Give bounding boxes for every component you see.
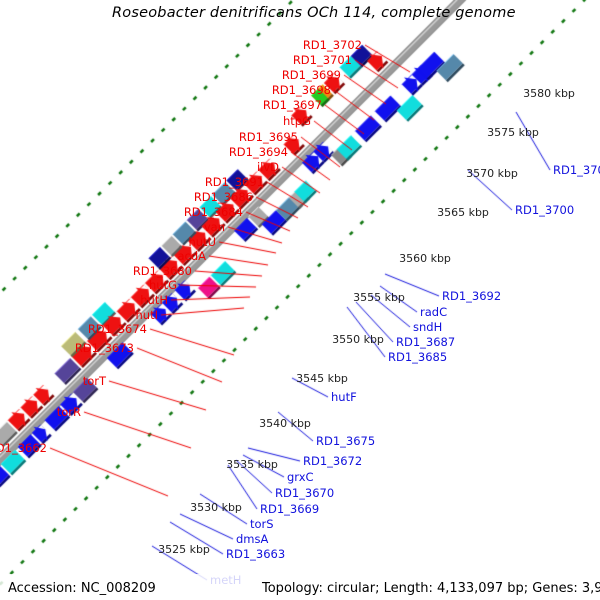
- gene-label-rd1_3687[interactable]: RD1_3687: [396, 336, 455, 348]
- gene-label-rd1_3700[interactable]: RD1_3700: [515, 204, 574, 216]
- gene-label-rd1_3662[interactable]: RD1_3662: [0, 442, 47, 454]
- gene-label-ilvd[interactable]: ilvD: [257, 161, 279, 173]
- gene-label-torr[interactable]: torR: [57, 406, 81, 418]
- gene-label-acda[interactable]: acdA: [177, 250, 206, 262]
- gene-label-rd1_3694[interactable]: RD1_3694: [229, 146, 288, 158]
- coordinate-tick-label: 3550 kbp: [332, 334, 384, 346]
- gene-label-radc[interactable]: radC: [420, 306, 447, 318]
- gene-label-hutu[interactable]: hutU: [188, 236, 216, 248]
- coordinate-tick-label: 3560 kbp: [399, 253, 451, 265]
- gene-label-rd1_3692[interactable]: RD1_3692: [442, 290, 501, 302]
- gene-label-rd1_3695[interactable]: RD1_3695: [239, 131, 298, 143]
- accession-label: Accession: NC_008209: [8, 581, 156, 596]
- gene-label-rd1_3706[interactable]: RD1_3706: [553, 164, 600, 176]
- gene-label-rd1_3702[interactable]: RD1_3702: [303, 39, 362, 51]
- gene-label-van[interactable]: van: [204, 221, 225, 233]
- coordinate-tick-label: 3555 kbp: [353, 292, 405, 304]
- gene-label-huth[interactable]: hutH: [140, 294, 168, 306]
- coordinate-tick-label: 3570 kbp: [466, 168, 518, 180]
- gene-label-rd1_3701[interactable]: RD1_3701: [293, 54, 352, 66]
- gene-label-hutg[interactable]: hutG: [149, 279, 177, 291]
- gene-label-rd1_3674[interactable]: RD1_3674: [88, 323, 147, 335]
- gene-label-rd1_3698[interactable]: RD1_3698: [272, 84, 331, 96]
- gene-label-rd1_3673[interactable]: RD1_3673: [75, 342, 134, 354]
- gene-label-rd1_3669[interactable]: RD1_3669: [260, 503, 319, 515]
- topology-info: Topology: circular; Length: 4,133,097 bp…: [262, 581, 600, 596]
- gene-label-hutf[interactable]: hutF: [331, 391, 357, 403]
- gene-label-sndh[interactable]: sndH: [413, 321, 442, 333]
- gene-label-rd1_3685[interactable]: RD1_3685: [388, 351, 447, 363]
- gene-label-rd1_3691[interactable]: RD1_3691: [205, 176, 264, 188]
- gene-label-htpg[interactable]: htpG: [283, 115, 311, 127]
- coordinate-tick-label: 3580 kbp: [523, 88, 575, 100]
- genome-map-viewer: Roseobacter denitrificans OCh 114, compl…: [0, 0, 600, 600]
- gene-label-rd1_3672[interactable]: RD1_3672: [303, 455, 362, 467]
- coordinate-tick-label: 3545 kbp: [296, 373, 348, 385]
- gene-label-rd1_3675[interactable]: RD1_3675: [316, 435, 375, 447]
- gene-label-rd1_3697[interactable]: RD1_3697: [263, 99, 322, 111]
- gene-label-rd1_3680[interactable]: RD1_3680: [133, 265, 192, 277]
- coordinate-tick-label: 3530 kbp: [190, 502, 242, 514]
- gene-label-rd1_3699[interactable]: RD1_3699: [282, 69, 341, 81]
- gene-label-dmsa[interactable]: dmsA: [236, 533, 268, 545]
- gene-label-tort[interactable]: torT: [83, 375, 106, 387]
- page-title: Roseobacter denitrificans OCh 114, compl…: [112, 5, 492, 21]
- gene-label-rd1_3686[interactable]: RD1_3686: [194, 191, 253, 203]
- gene-label-grxc[interactable]: grxC: [287, 471, 314, 483]
- gene-label-rd1_3663[interactable]: RD1_3663: [226, 548, 285, 560]
- gene-label-tors[interactable]: torS: [250, 518, 274, 530]
- coordinate-tick-label: 3525 kbp: [158, 544, 210, 556]
- status-bar: Accession: NC_008209 Topology: circular;…: [0, 574, 600, 600]
- coordinate-tick-label: 3575 kbp: [487, 127, 539, 139]
- coordinate-tick-label: 3565 kbp: [437, 207, 489, 219]
- gene-label-rd1_3670[interactable]: RD1_3670: [275, 487, 334, 499]
- coordinate-tick-label: 3540 kbp: [259, 418, 311, 430]
- gene-label-rd1_3684[interactable]: RD1_3684: [184, 206, 243, 218]
- coordinate-tick-label: 3535 kbp: [226, 459, 278, 471]
- gene-label-huti[interactable]: hutI: [136, 309, 158, 321]
